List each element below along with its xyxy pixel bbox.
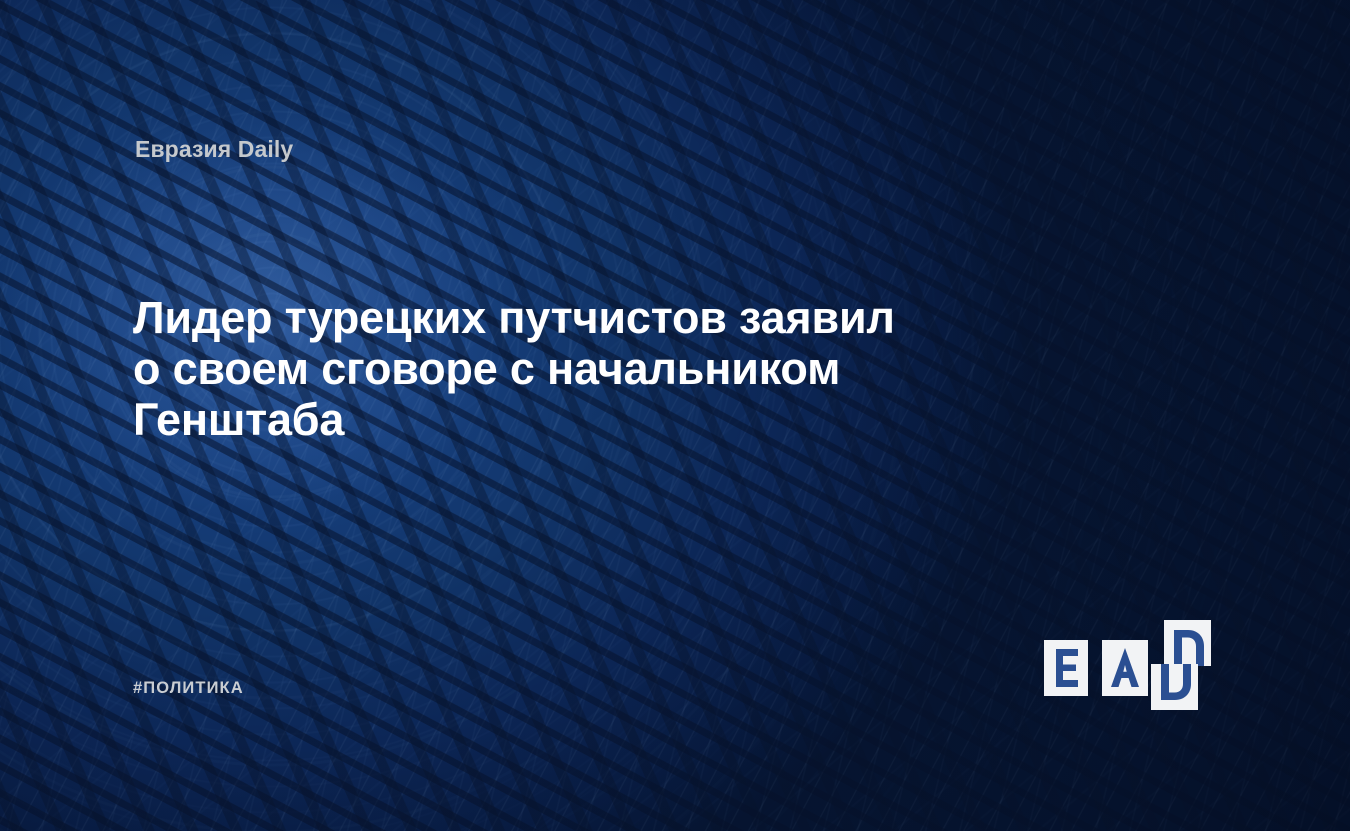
headline-line-1: Лидер турецких путчистов заявил — [133, 292, 1093, 343]
brand-name: Евразия Daily — [135, 136, 293, 163]
headline-line-3: Генштаба — [133, 394, 1093, 445]
logo-tile-d-top-icon — [1164, 620, 1211, 666]
logo-tile-e-icon — [1044, 640, 1088, 696]
eadaily-logo[interactable] — [1044, 620, 1224, 712]
news-card: Евразия Daily Лидер турецких путчистов з… — [0, 0, 1350, 831]
headline-line-2: о своем сговоре с начальником — [133, 343, 1093, 394]
category-tag[interactable]: #ПОЛИТИКА — [133, 679, 244, 698]
card-content: Евразия Daily Лидер турецких путчистов з… — [0, 0, 1350, 831]
logo-tile-a-icon — [1102, 640, 1148, 696]
page-title: Лидер турецких путчистов заявил о своем … — [133, 292, 1093, 445]
logo-tile-d-bottom-icon — [1151, 664, 1198, 710]
